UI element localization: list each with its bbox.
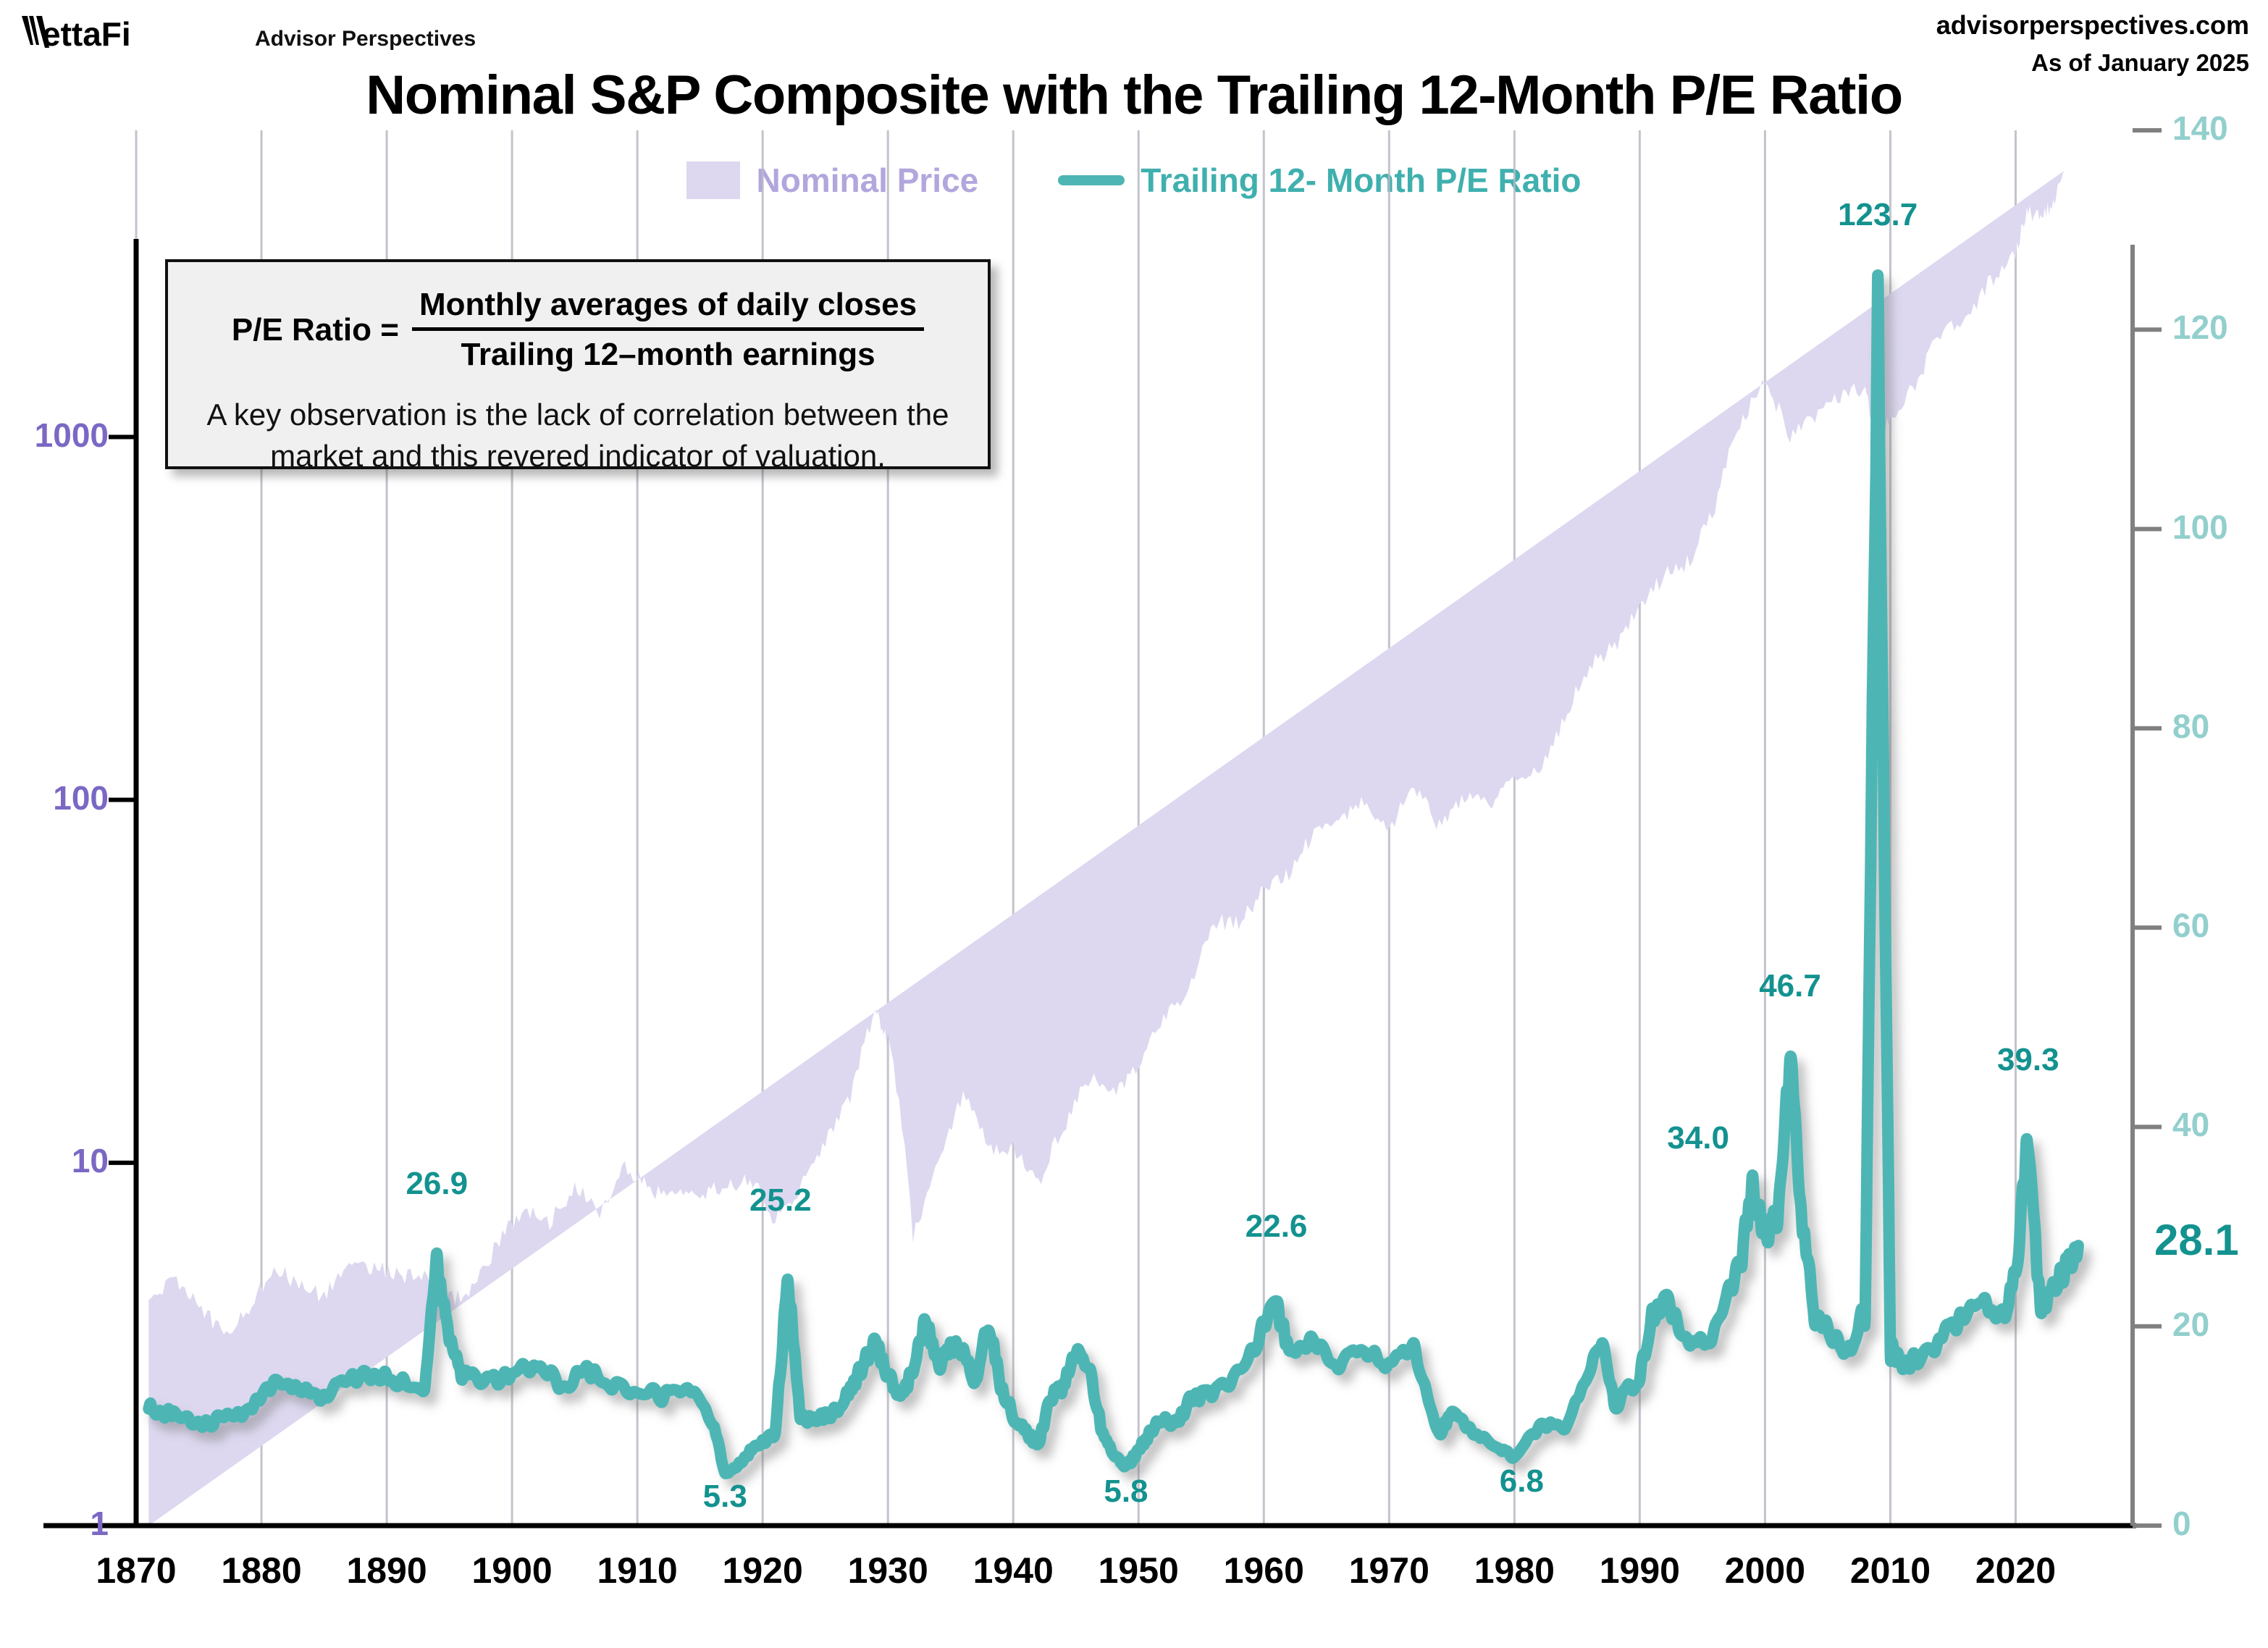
y-axis-right-tick-40: 40 [2172, 1105, 2268, 1144]
y-axis-right-tick-140: 140 [2172, 109, 2268, 148]
y-axis-left-tick-100: 100 [0, 778, 109, 817]
formula-denominator: Trailing 12–month earnings [453, 331, 882, 373]
y-axis-right-tick-100: 100 [2172, 508, 2268, 547]
x-axis-tick-1980: 1980 [1442, 1550, 1587, 1592]
annotation-box: P/E Ratio = Monthly averages of daily cl… [165, 259, 991, 469]
callout-6-8: 6.8 [1442, 1463, 1601, 1500]
y-axis-right-tick-0: 0 [2172, 1504, 2268, 1543]
y-axis-left-tick-1000: 1000 [0, 416, 109, 455]
formula-fraction: Monthly averages of daily closes Trailin… [412, 287, 924, 373]
y-axis-left-tick-1: 1 [0, 1504, 109, 1543]
x-axis-tick-1920: 1920 [690, 1550, 835, 1592]
x-axis-tick-1900: 1900 [440, 1550, 584, 1592]
y-axis-right-tick-80: 80 [2172, 707, 2268, 746]
chart-svg [0, 0, 2268, 1648]
y-axis-left-tick-10: 10 [0, 1141, 109, 1180]
callout-current-value: 28.1 [2154, 1215, 2239, 1265]
callout-22-6: 22.6 [1197, 1208, 1356, 1245]
callout-123-7: 123.7 [1798, 197, 1957, 233]
callout-5-3: 5.3 [645, 1479, 805, 1515]
annotation-note: A key observation is the lack of correla… [190, 395, 966, 476]
formula-numerator: Monthly averages of daily closes [412, 287, 924, 327]
pe-formula: P/E Ratio = Monthly averages of daily cl… [190, 287, 966, 373]
x-axis-tick-1990: 1990 [1567, 1550, 1712, 1592]
callout-46-7: 46.7 [1710, 968, 1870, 1004]
chart-plot-area: 1101001000 020406080100120140 1870188018… [0, 0, 2268, 1648]
x-axis-tick-2020: 2020 [1943, 1550, 2088, 1592]
callout-26-9: 26.9 [357, 1166, 516, 1202]
callout-34-0: 34.0 [1618, 1120, 1778, 1156]
x-axis-tick-1960: 1960 [1191, 1550, 1336, 1592]
x-axis-tick-2010: 2010 [1818, 1550, 1962, 1592]
x-axis-tick-1950: 1950 [1066, 1550, 1211, 1592]
x-axis-tick-1870: 1870 [64, 1550, 209, 1592]
callout-25-2: 25.2 [701, 1182, 860, 1219]
y-axis-right-tick-60: 60 [2172, 906, 2268, 945]
x-axis-tick-1880: 1880 [189, 1550, 334, 1592]
formula-left-side: P/E Ratio = [232, 312, 399, 348]
x-axis-tick-1970: 1970 [1316, 1550, 1461, 1592]
x-axis-tick-1940: 1940 [941, 1550, 1085, 1592]
callout-5-8: 5.8 [1046, 1473, 1206, 1510]
x-axis-tick-1930: 1930 [815, 1550, 960, 1592]
x-axis-tick-2000: 2000 [1692, 1550, 1837, 1592]
x-axis-tick-1910: 1910 [565, 1550, 710, 1592]
y-axis-right-tick-20: 20 [2172, 1305, 2268, 1344]
x-axis-tick-1890: 1890 [314, 1550, 459, 1592]
callout-39-3: 39.3 [1949, 1042, 2108, 1078]
y-axis-right-tick-120: 120 [2172, 308, 2268, 347]
